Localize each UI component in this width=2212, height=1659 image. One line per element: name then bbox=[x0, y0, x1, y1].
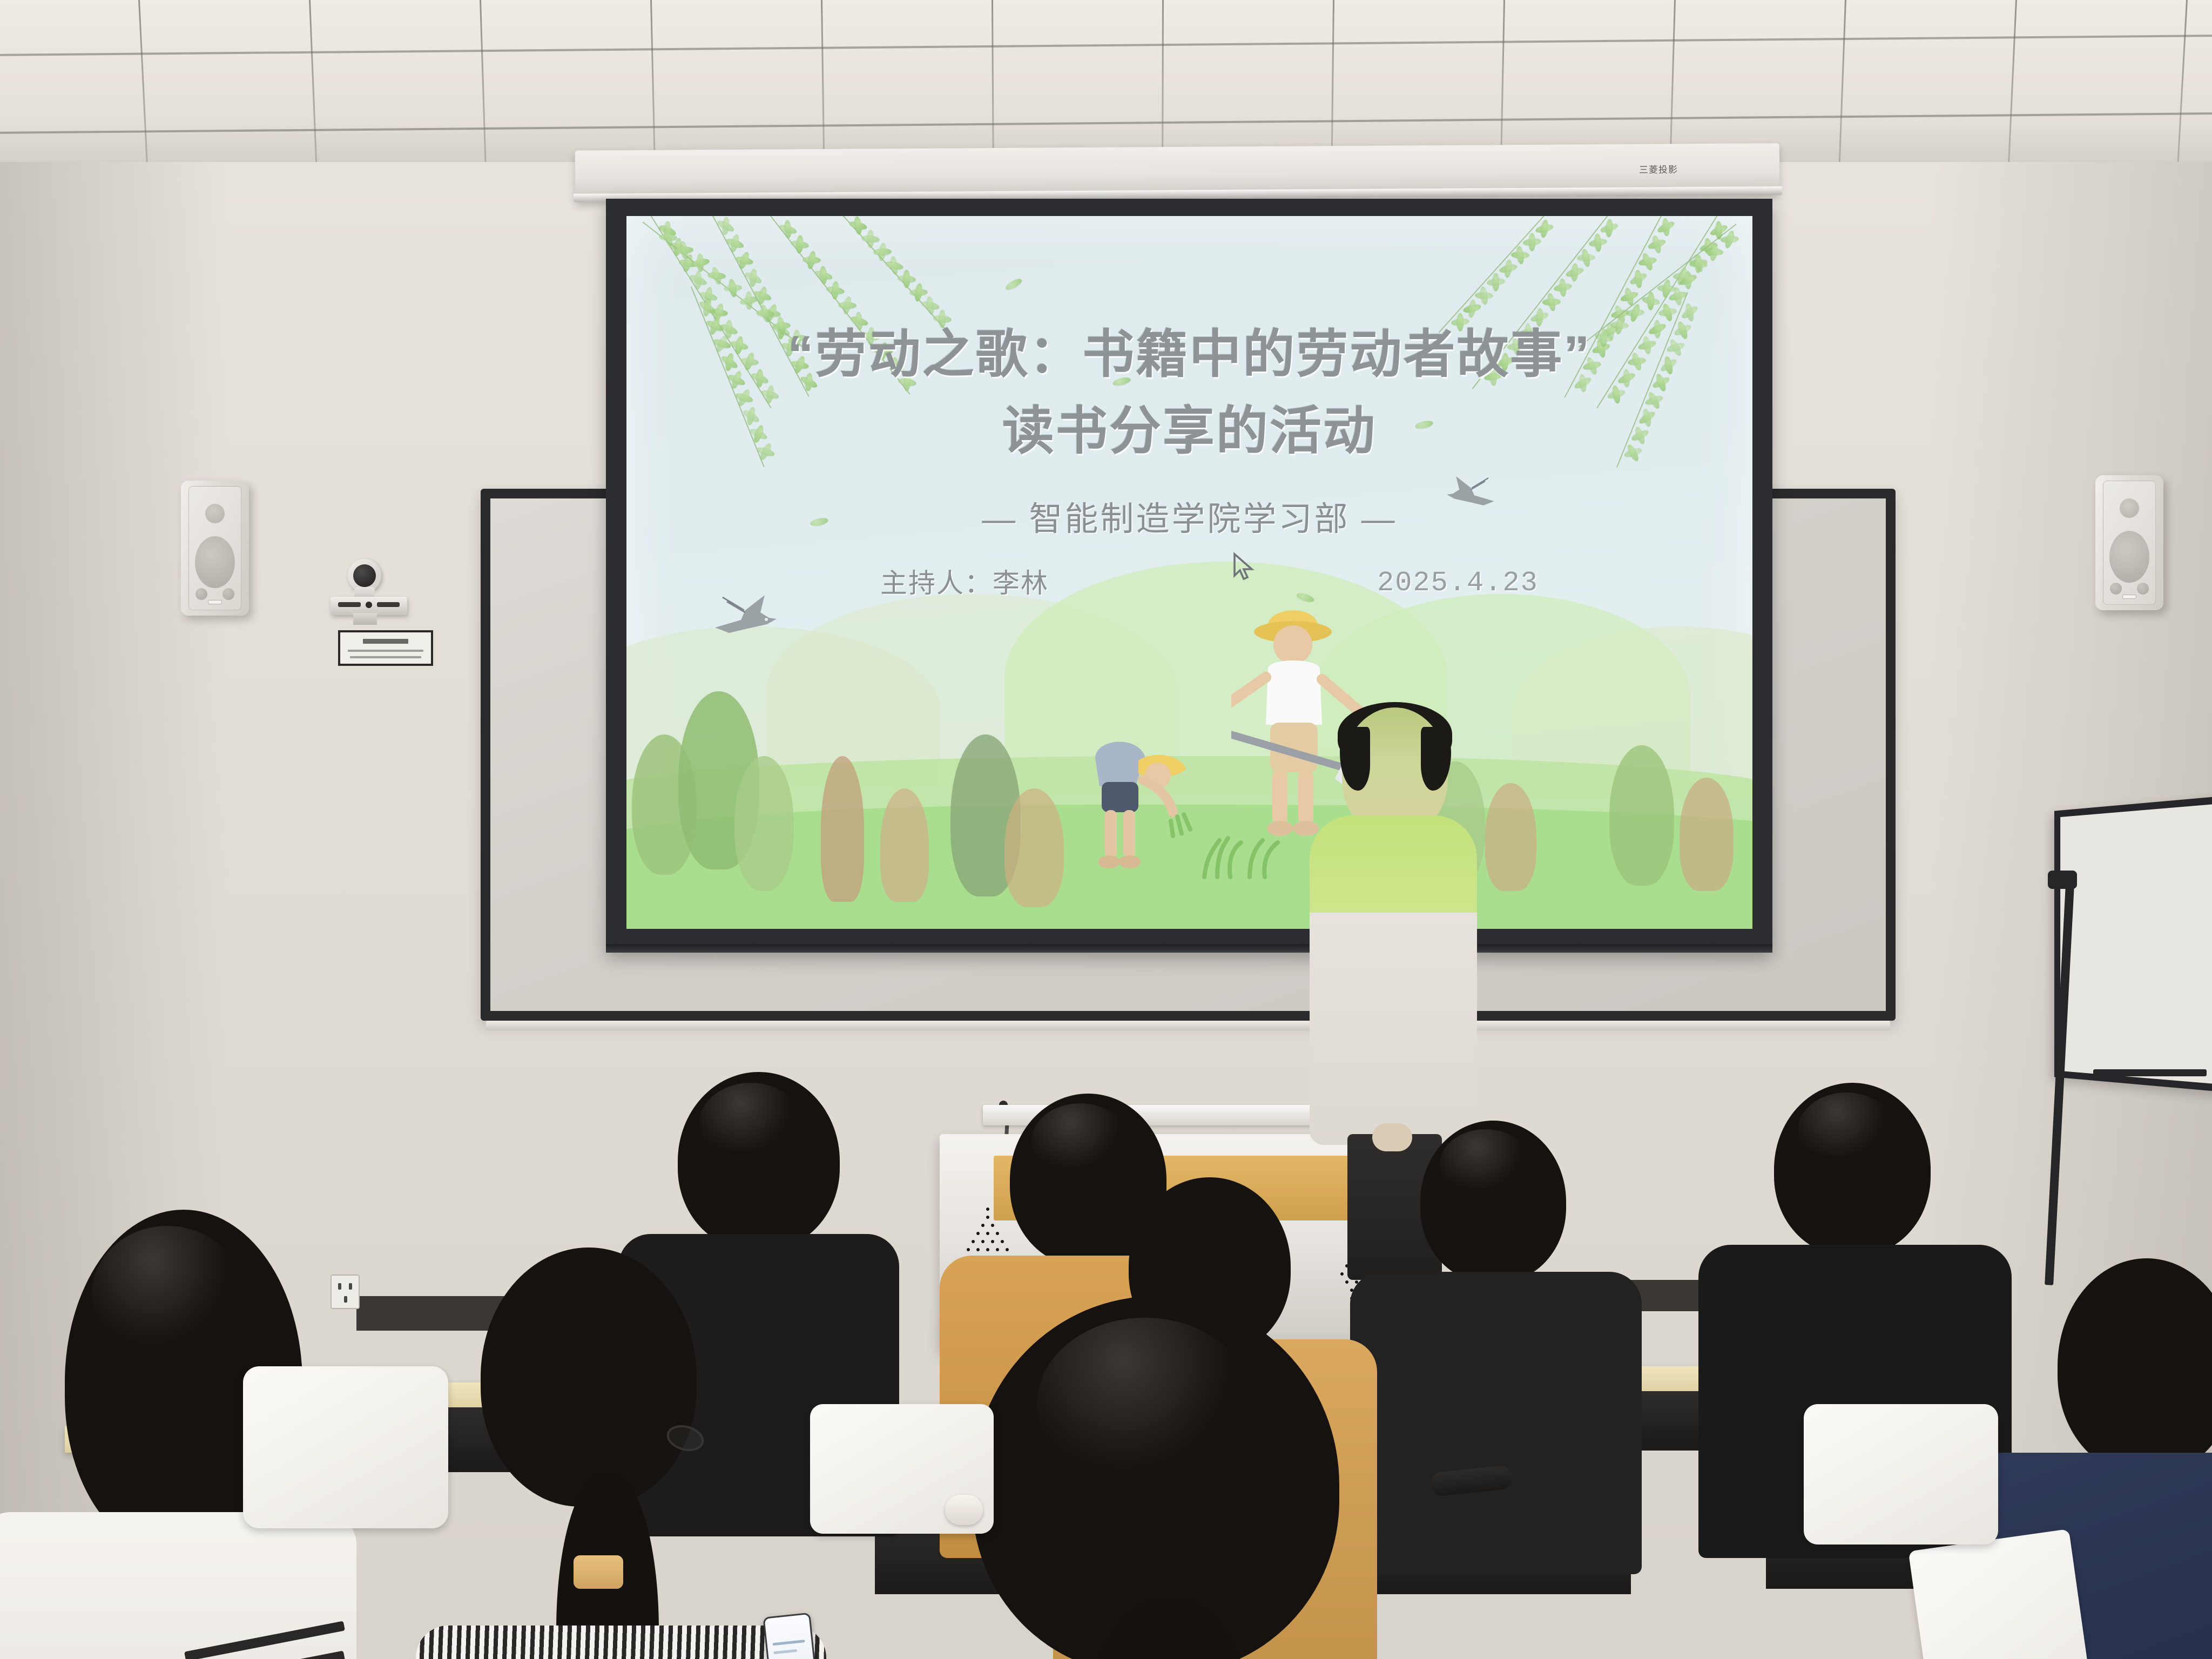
grille-hole bbox=[986, 1216, 989, 1219]
ceiling-tile-line bbox=[138, 0, 149, 173]
ceiling-tile-line bbox=[0, 35, 2212, 56]
grille-hole bbox=[976, 1232, 980, 1235]
camera-base bbox=[331, 597, 407, 615]
grille-hole bbox=[986, 1208, 989, 1211]
ceiling-tile-line bbox=[2177, 0, 2188, 173]
camera-wall-mount bbox=[353, 613, 377, 625]
equipment-nameplate bbox=[338, 630, 433, 666]
slide-title-line1: “劳动之歌：书籍中的劳动者故事” bbox=[626, 312, 1752, 387]
ceiling-tile-line bbox=[2007, 0, 2017, 173]
ceiling-tile-line bbox=[992, 0, 994, 173]
grille-hole bbox=[976, 1248, 980, 1251]
slide-host-label: 主持人：李林 bbox=[880, 562, 1049, 601]
grille-hole bbox=[996, 1232, 999, 1235]
presenter-hands bbox=[1372, 1123, 1412, 1151]
grille-hole bbox=[972, 1240, 975, 1243]
ceiling-tile-line bbox=[650, 0, 656, 173]
white-bag bbox=[243, 1366, 448, 1528]
grille-hole bbox=[981, 1224, 984, 1227]
speaker-woofer bbox=[195, 536, 235, 588]
smartphone[interactable] bbox=[763, 1613, 818, 1659]
ceiling-tile-line bbox=[309, 0, 318, 173]
flip-chart-whiteboard bbox=[2054, 795, 2212, 1092]
easel-crossbar bbox=[2093, 1069, 2207, 1076]
camera-vent bbox=[338, 602, 361, 607]
speaker-knob bbox=[2110, 583, 2122, 595]
desk-item bbox=[945, 1495, 983, 1525]
speaker-led bbox=[2122, 595, 2136, 599]
grille-hole bbox=[986, 1232, 989, 1235]
speaker-face bbox=[188, 486, 241, 610]
speaker-knob bbox=[2137, 583, 2149, 595]
grille-hole bbox=[996, 1248, 999, 1251]
projection-screen-bottom-bar bbox=[606, 944, 1772, 953]
camera-vent bbox=[377, 602, 400, 607]
grille-hole bbox=[967, 1248, 970, 1251]
presenter-torso bbox=[1310, 913, 1477, 1145]
ceiling-tile-line bbox=[0, 112, 2212, 134]
grille-hole bbox=[991, 1224, 994, 1227]
slide-date: 2025.4.23 bbox=[1377, 567, 1539, 599]
white-bag bbox=[1908, 1529, 2099, 1659]
speaker-led bbox=[208, 600, 222, 604]
speaker-face bbox=[2103, 481, 2156, 605]
presentation-slide: “劳动之歌：书籍中的劳动者故事” 读书分享的活动 — 智能制造学院学习部 — 主… bbox=[626, 216, 1752, 929]
slide-title-line2: 读书分享的活动 bbox=[626, 389, 1752, 464]
grass-tufts-icon bbox=[1193, 821, 1301, 880]
hair-tie bbox=[574, 1555, 623, 1589]
classroom-scene: 三菱投影 bbox=[0, 0, 2212, 1659]
speaker-knob bbox=[222, 588, 234, 600]
presenter-torso-lit bbox=[1310, 815, 1477, 918]
mouse-pointer-icon bbox=[1232, 552, 1256, 582]
power-outlet bbox=[331, 1274, 360, 1309]
farmer-bending-icon bbox=[1069, 724, 1210, 880]
speaker-tweeter bbox=[2120, 498, 2139, 518]
grille-hole bbox=[986, 1248, 989, 1251]
speaker-knob bbox=[195, 588, 207, 600]
speaker-woofer bbox=[2109, 531, 2149, 583]
camera-indicator bbox=[366, 602, 372, 608]
projector-brand-logo: 三菱投影 bbox=[1639, 162, 1678, 176]
grille-hole bbox=[1006, 1248, 1009, 1251]
wall-speaker bbox=[181, 481, 249, 616]
easel-clamp bbox=[2048, 871, 2077, 889]
ceiling-tile-line bbox=[480, 0, 487, 173]
grille-hole bbox=[1345, 1280, 1348, 1284]
camera-lens-icon bbox=[353, 564, 376, 587]
speaker-tweeter bbox=[205, 504, 225, 523]
ceiling-tile-line bbox=[821, 0, 825, 173]
ceiling-tile-line bbox=[1838, 0, 1846, 173]
wall-speaker bbox=[2095, 475, 2163, 610]
grille-hole bbox=[991, 1240, 994, 1243]
grille-hole bbox=[981, 1240, 984, 1243]
whiteboard-marker-tray bbox=[486, 1021, 1890, 1030]
grille-hole bbox=[1001, 1240, 1004, 1243]
slide-organizer: — 智能制造学院学习部 — bbox=[626, 491, 1752, 540]
white-bag bbox=[1804, 1404, 1998, 1545]
